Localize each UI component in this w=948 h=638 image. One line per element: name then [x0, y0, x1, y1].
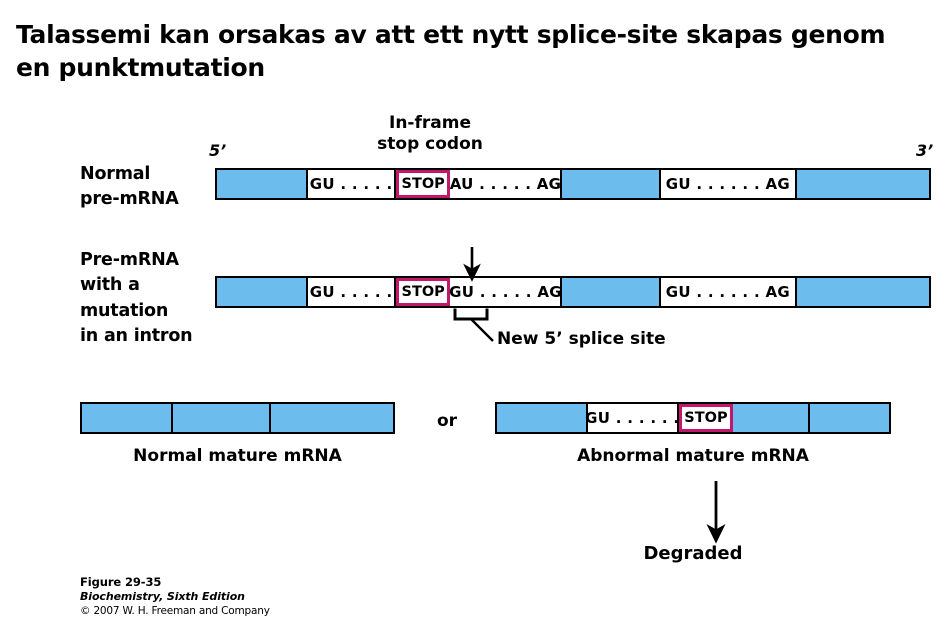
segment-exon	[173, 404, 271, 432]
or-label: or	[437, 411, 457, 431]
segment-intron: GU . . . . . . AG	[661, 170, 797, 198]
book-title: Biochemistry, Sixth Edition	[80, 590, 270, 605]
segment-intron: GU . . . . .	[308, 278, 395, 306]
segment-stop-codon: STOP	[396, 278, 451, 306]
row-label-line: Pre-mRNA	[80, 248, 192, 273]
rna-bar-normal-mature-mrna	[80, 402, 395, 434]
in-frame-stop-codon-callout: In-frame stop codon	[310, 113, 550, 156]
row-label-normal-pre-mrna: Normal pre-mRNA	[80, 162, 179, 213]
row-label-line: Normal	[80, 162, 179, 187]
segment-exon	[810, 404, 889, 432]
row-label-line: pre-mRNA	[80, 187, 179, 212]
segment-exon	[82, 404, 173, 432]
segment-exon	[497, 404, 588, 432]
three-prime-label: 3’	[916, 141, 933, 160]
segment-intron: GU . . . . .	[308, 170, 395, 198]
segment-exon	[733, 404, 810, 432]
segment-intron: GU . . . . . . AG	[661, 278, 797, 306]
rna-bar-mutant-pre-mrna: GU . . . . . STOP GU . . . . . AG GU . .…	[215, 276, 931, 308]
new-splice-site-bracket	[455, 310, 493, 341]
segment-exon	[217, 170, 308, 198]
segment-exon	[797, 170, 929, 198]
segment-intron: GU . . . . . .	[588, 404, 679, 432]
row-label-line: in an intron	[80, 324, 192, 349]
degraded-label: Degraded	[593, 543, 793, 564]
copyright-notice: © 2007 W. H. Freeman and Company	[80, 605, 270, 619]
rna-bar-abnormal-mature-mrna: GU . . . . . . STOP	[495, 402, 891, 434]
segment-stop-codon: STOP	[396, 170, 451, 198]
new-splice-site-label: New 5’ splice site	[497, 329, 727, 350]
figure-credits: Figure 29-35 Biochemistry, Sixth Edition…	[80, 575, 270, 619]
segment-exon	[217, 278, 308, 306]
segment-exon	[562, 170, 660, 198]
segment-stop-codon: STOP	[679, 404, 733, 432]
segment-intron-new-splice: GU . . . . . AG	[450, 278, 562, 306]
rna-bar-normal-pre-mrna: GU . . . . . STOP AU . . . . . AG GU . .…	[215, 168, 931, 200]
in-frame-stop-codon-line1: In-frame	[310, 113, 550, 134]
segment-exon	[562, 278, 660, 306]
figure-number: Figure 29-35	[80, 575, 270, 590]
segment-exon	[797, 278, 929, 306]
page-title: Talassemi kan orsakas av att ett nytt sp…	[16, 18, 916, 84]
caption-abnormal-mature-mrna: Abnormal mature mRNA	[495, 446, 891, 466]
in-frame-stop-codon-line2: stop codon	[310, 134, 550, 155]
row-label-line: mutation	[80, 299, 192, 324]
five-prime-label: 5’	[209, 141, 226, 160]
row-label-line: with a	[80, 273, 192, 298]
segment-intron: AU . . . . . AG	[450, 170, 562, 198]
row-label-mutant-pre-mrna: Pre-mRNA with a mutation in an intron	[80, 248, 192, 350]
caption-normal-mature-mrna: Normal mature mRNA	[80, 446, 395, 466]
segment-exon	[271, 404, 393, 432]
